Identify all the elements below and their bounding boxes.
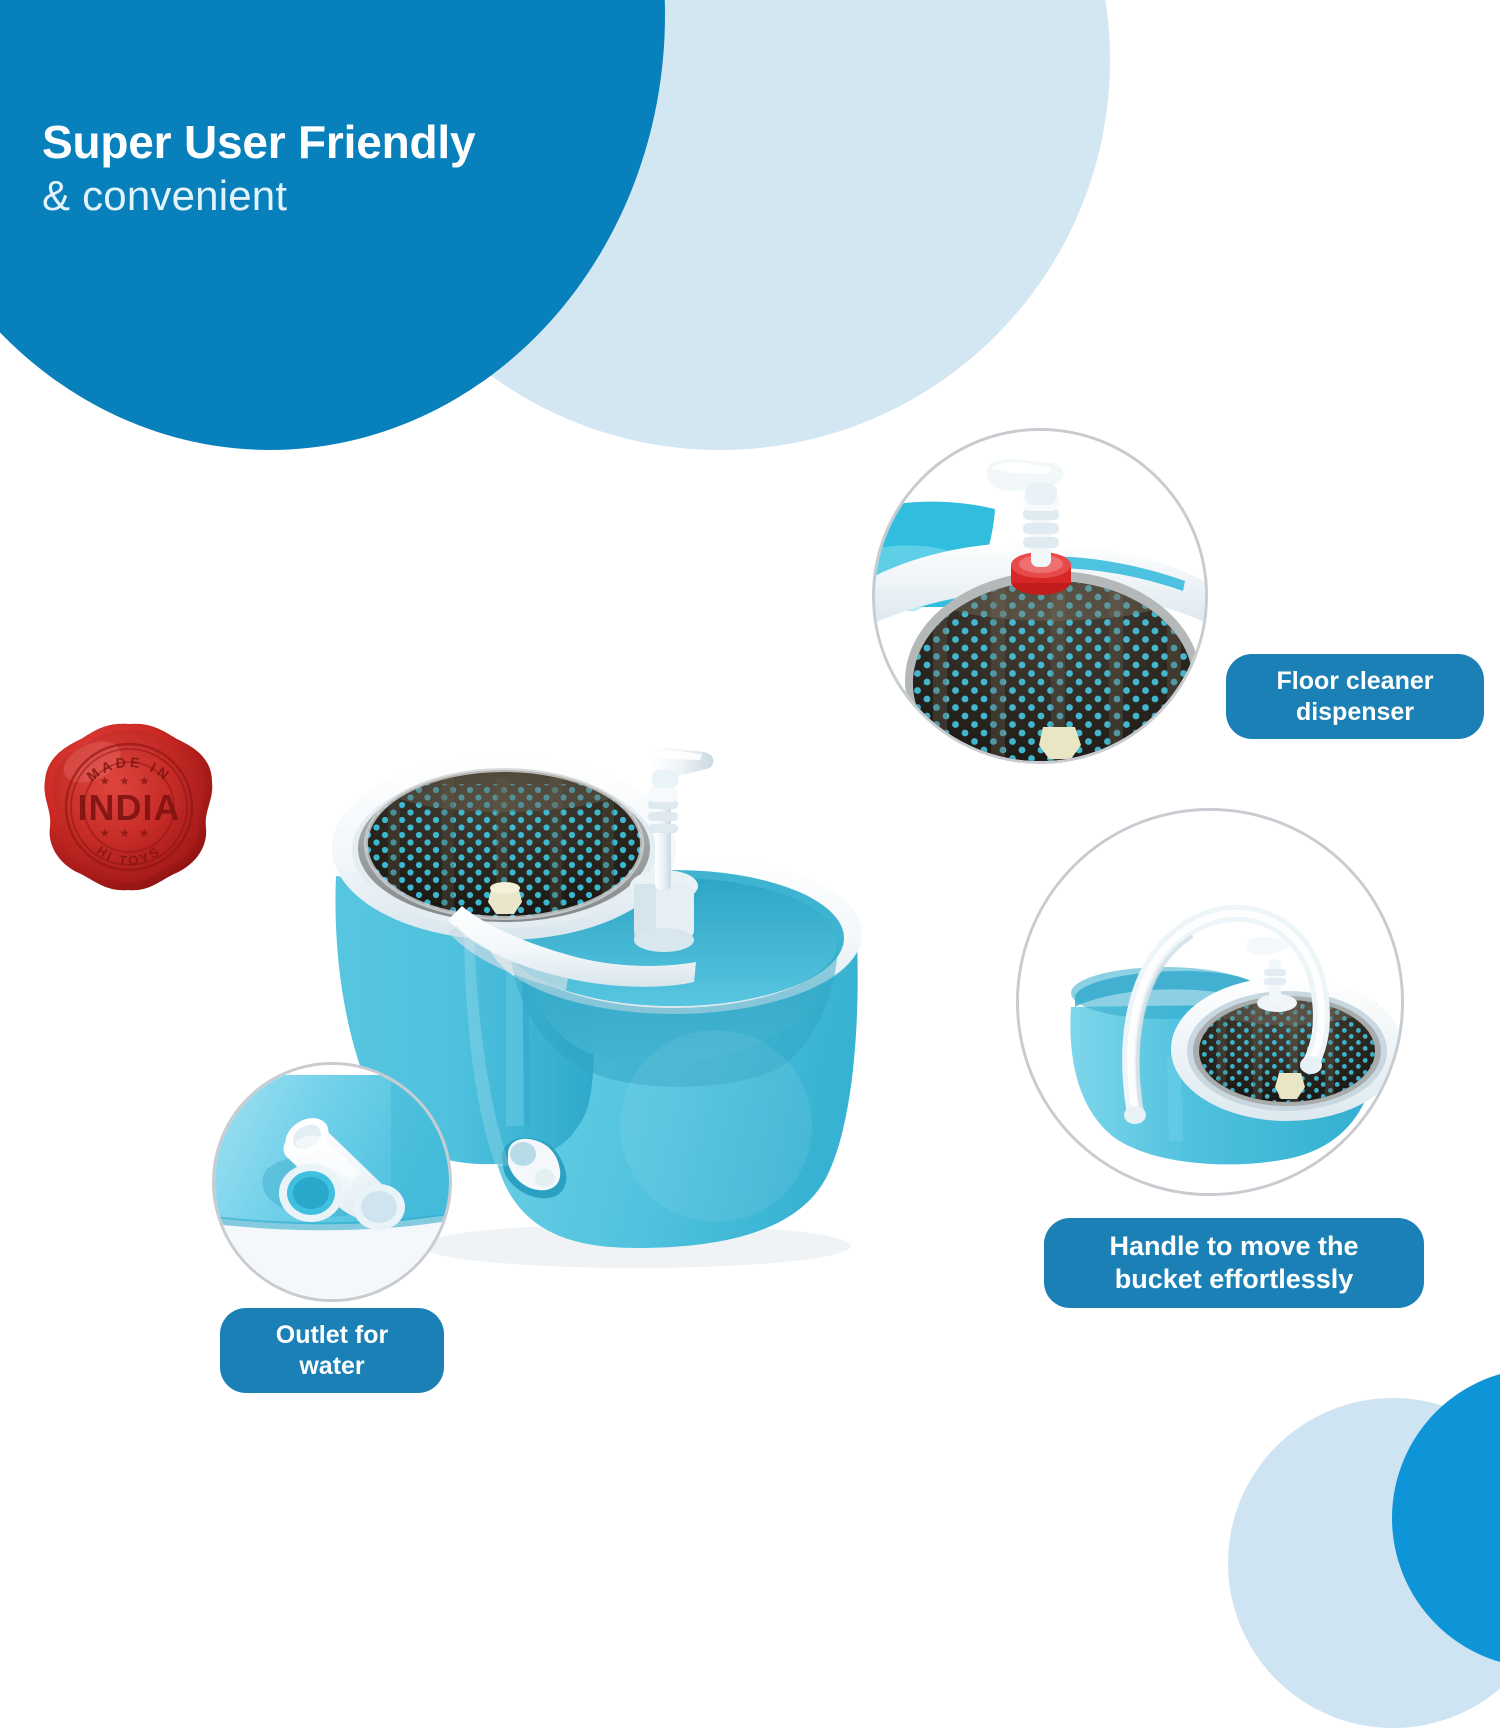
callout-handle-to-move[interactable]: Handle to move the bucket effortlessly (1044, 1218, 1424, 1308)
inset-outlet-closeup (212, 1062, 452, 1302)
callout-outlet-for-water[interactable]: Outlet for water (220, 1308, 444, 1393)
svg-text:★★★: ★★★ (99, 826, 158, 840)
headline-secondary: & convenient (42, 171, 662, 221)
callout-line-2: water (234, 1351, 430, 1382)
headline-block: Super User Friendly & convenient (42, 118, 662, 220)
infographic-canvas: Super User Friendly & convenient (0, 0, 1500, 1500)
callout-line-1: Floor cleaner (1240, 666, 1470, 697)
seal-main-text: INDIA (78, 787, 181, 828)
inset-handle-closeup (1016, 808, 1404, 1196)
callout-line-2: bucket effortlessly (1058, 1263, 1410, 1296)
made-in-india-seal: MADE IN ★★★ ★★★ INDIA HI TOYS (34, 716, 224, 896)
callout-line-1: Handle to move the (1058, 1230, 1410, 1263)
callout-floor-cleaner-dispenser[interactable]: Floor cleaner dispenser (1226, 654, 1484, 739)
inset-dispenser-closeup (872, 428, 1208, 764)
callout-line-1: Outlet for (234, 1320, 430, 1351)
headline-primary: Super User Friendly (42, 118, 662, 167)
callout-line-2: dispenser (1240, 697, 1470, 728)
svg-text:★★★: ★★★ (99, 774, 158, 788)
